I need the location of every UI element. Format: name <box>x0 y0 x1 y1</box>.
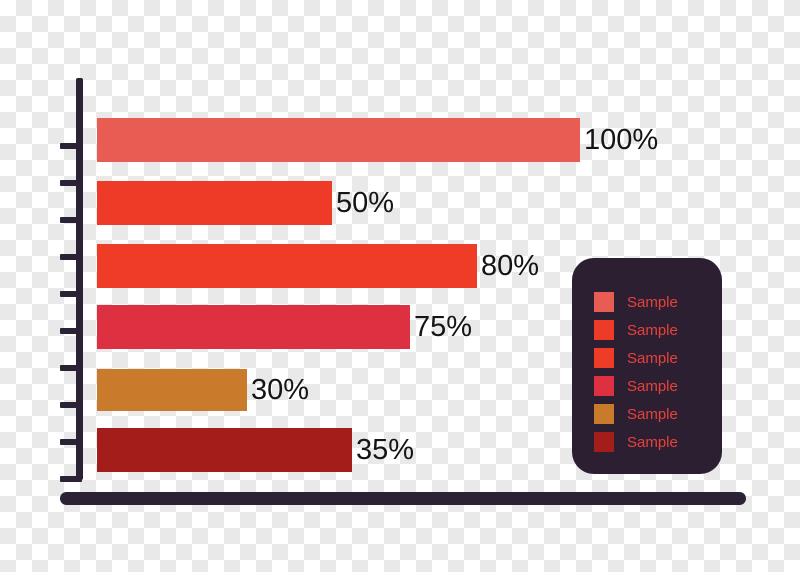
y-axis-tick <box>60 476 82 482</box>
bar-value-label: 75% <box>414 313 472 342</box>
legend-item[interactable]: Sample <box>594 316 722 344</box>
bar-row: 80% <box>97 244 539 288</box>
legend-color-swatch <box>594 404 614 424</box>
legend-color-swatch <box>594 348 614 368</box>
bar[interactable] <box>97 244 477 288</box>
y-axis-line <box>76 78 83 480</box>
chart-canvas: 100%50%80%75%30%35% SampleSampleSampleSa… <box>0 0 800 572</box>
legend-label: Sample <box>627 379 678 394</box>
legend-item[interactable]: Sample <box>594 428 722 456</box>
y-axis-tick <box>60 365 82 371</box>
bar-row: 50% <box>97 181 394 225</box>
y-axis-tick <box>60 254 82 260</box>
legend-item[interactable]: Sample <box>594 344 722 372</box>
bar-row: 35% <box>97 428 414 472</box>
legend-label: Sample <box>627 435 678 450</box>
bar-row: 30% <box>97 369 309 411</box>
chart-legend: SampleSampleSampleSampleSampleSample <box>572 258 722 474</box>
y-axis-tick <box>60 217 82 223</box>
y-axis-tick <box>60 402 82 408</box>
bar[interactable] <box>97 305 410 349</box>
bar[interactable] <box>97 428 352 472</box>
bar-value-label: 50% <box>336 189 394 218</box>
legend-label: Sample <box>627 351 678 366</box>
y-axis-tick <box>60 143 82 149</box>
y-axis-tick <box>60 291 82 297</box>
legend-color-swatch <box>594 376 614 396</box>
y-axis-tick <box>60 439 82 445</box>
y-axis-tick <box>60 180 82 186</box>
bar-value-label: 80% <box>481 252 539 281</box>
legend-item[interactable]: Sample <box>594 372 722 400</box>
bar[interactable] <box>97 369 247 411</box>
legend-item[interactable]: Sample <box>594 288 722 316</box>
x-axis-baseline <box>60 492 746 505</box>
legend-label: Sample <box>627 323 678 338</box>
bar-row: 100% <box>97 118 658 162</box>
legend-color-swatch <box>594 320 614 340</box>
bar-value-label: 30% <box>251 376 309 405</box>
bar[interactable] <box>97 181 332 225</box>
bar-row: 75% <box>97 305 472 349</box>
legend-label: Sample <box>627 407 678 422</box>
legend-item-list: SampleSampleSampleSampleSampleSample <box>594 288 722 456</box>
legend-item[interactable]: Sample <box>594 400 722 428</box>
bar[interactable] <box>97 118 580 162</box>
legend-color-swatch <box>594 292 614 312</box>
y-axis-tick <box>60 328 82 334</box>
bar-value-label: 35% <box>356 436 414 465</box>
bar-value-label: 100% <box>584 126 658 155</box>
legend-label: Sample <box>627 295 678 310</box>
legend-color-swatch <box>594 432 614 452</box>
